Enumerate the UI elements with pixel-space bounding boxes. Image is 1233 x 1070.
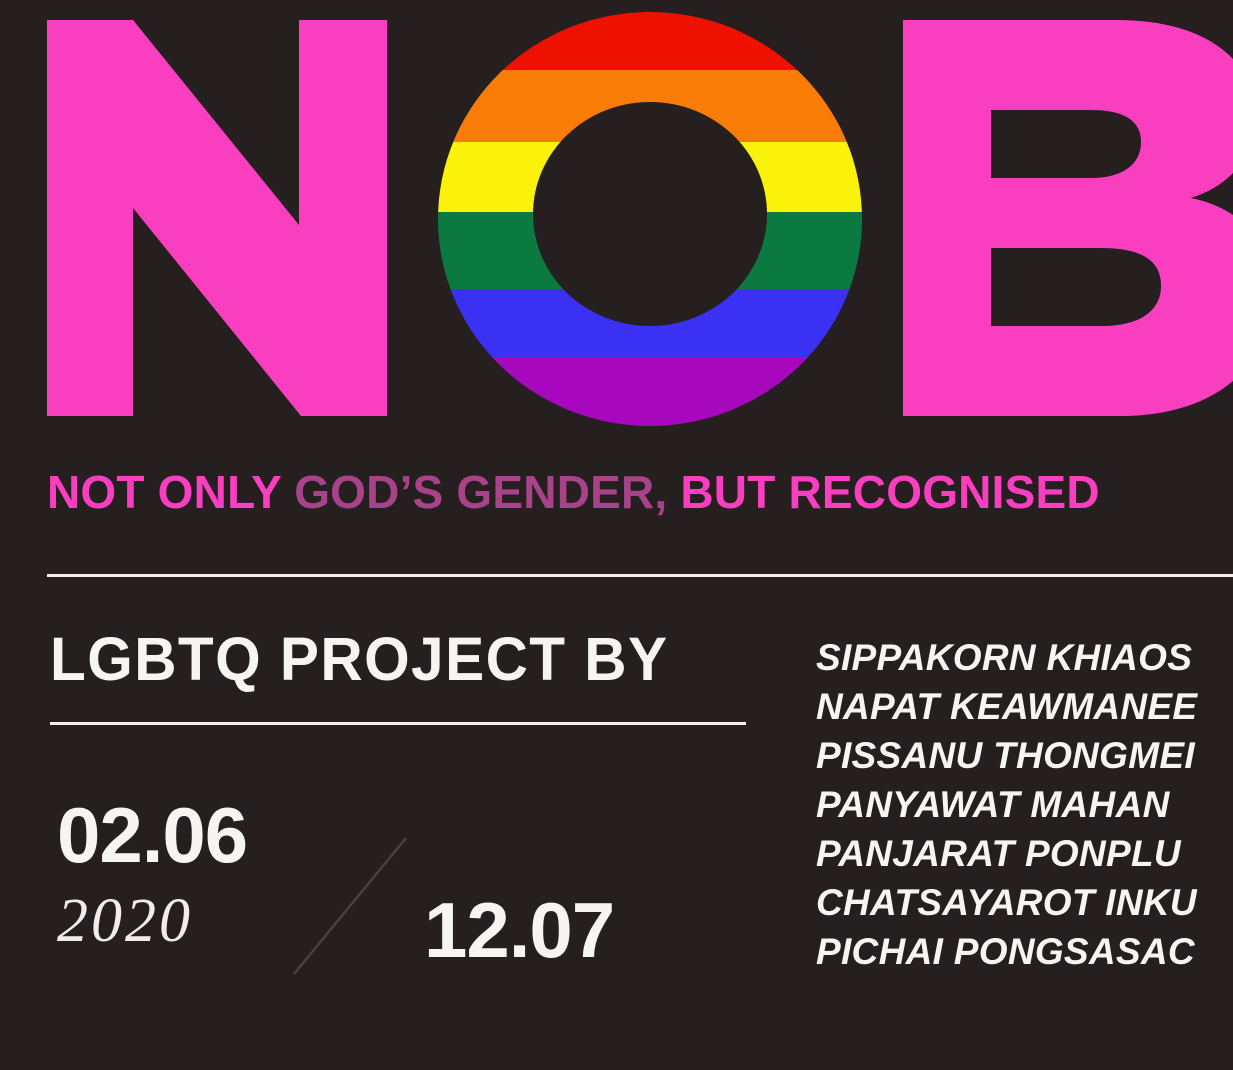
list-item: NAPAT KEAWMANEE [816,682,1233,731]
date-start: 02.06 [57,794,247,876]
date-year: 2020 [57,888,193,954]
list-item: PICHAI PONGSASAC [816,927,1233,976]
project-rule [50,722,746,725]
wordmark-letter-o-rainbow-icon [438,12,862,426]
tagline: NOT ONLY GOD’S GENDER, BUT RECOGNISED [47,466,1233,518]
date-end: 12.07 [424,889,614,971]
wordmark-letter-b [903,20,1233,416]
credits-name-list: SIPPAKORN KHIAOS NAPAT KEAWMANEE PISSANU… [816,633,1233,976]
tagline-part-bright-leading: NOT ONLY [47,466,294,518]
tagline-part-bright-trailing: BUT RECOGNISED [667,466,1099,518]
list-item: CHATSAYAROT INKU [816,878,1233,927]
list-item: PANJARAT PONPLU [816,829,1233,878]
list-item: PISSANU THONGMEI [816,731,1233,780]
list-item: SIPPAKORN KHIAOS [816,633,1233,682]
poster-canvas: NOT ONLY GOD’S GENDER, BUT RECOGNISED LG… [0,0,1233,1070]
wordmark-letter-n [47,20,387,416]
full-width-rule [47,574,1233,577]
date-separator-slash-icon [280,830,420,980]
list-item: PANYAWAT MAHAN [816,780,1233,829]
page-title: LGBTQ PROJECT BY [50,626,668,692]
wordmark [0,0,1233,440]
tagline-part-dim: GOD’S GENDER, [294,466,667,518]
